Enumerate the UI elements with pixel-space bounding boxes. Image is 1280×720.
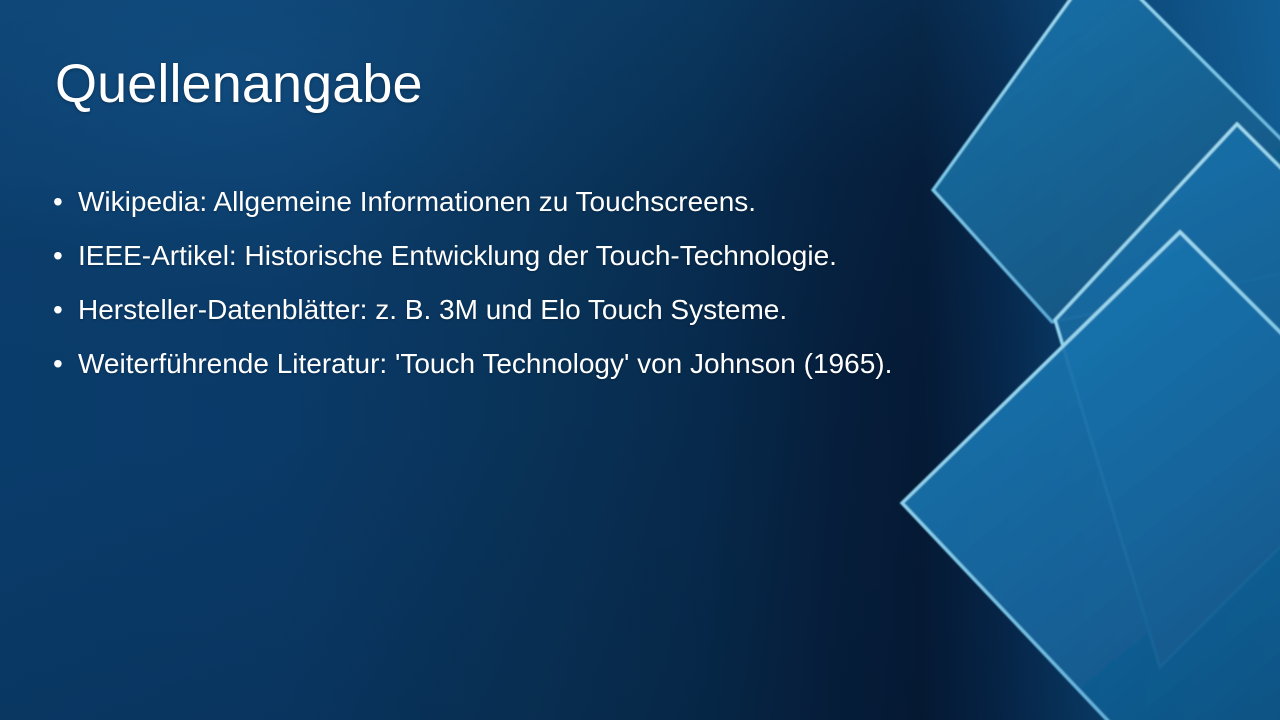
bullet-marker-icon: • <box>53 347 78 381</box>
bullet-marker-icon: • <box>53 293 78 327</box>
bullet-text: Wikipedia: Allgemeine Informationen zu T… <box>78 185 1183 219</box>
list-item: • IEEE-Artikel: Historische Entwicklung … <box>53 239 1183 293</box>
bullet-text: Hersteller-Datenblätter: z. B. 3M und El… <box>78 293 1183 327</box>
bullet-text: Weiterführende Literatur: 'Touch Technol… <box>78 347 1183 381</box>
list-item: • Hersteller-Datenblätter: z. B. 3M und … <box>53 293 1183 347</box>
slide-content: Quellenangabe • Wikipedia: Allgemeine In… <box>0 0 1280 720</box>
slide-title: Quellenangabe <box>55 56 423 113</box>
bullet-marker-icon: • <box>53 239 78 273</box>
bullet-list: • Wikipedia: Allgemeine Informationen zu… <box>53 185 1183 401</box>
list-item: • Wikipedia: Allgemeine Informationen zu… <box>53 185 1183 239</box>
bullet-text: IEEE-Artikel: Historische Entwicklung de… <box>78 239 1183 273</box>
list-item: • Weiterführende Literatur: 'Touch Techn… <box>53 347 1183 401</box>
slide-canvas: Quellenangabe • Wikipedia: Allgemeine In… <box>0 0 1280 720</box>
bullet-marker-icon: • <box>53 185 78 219</box>
